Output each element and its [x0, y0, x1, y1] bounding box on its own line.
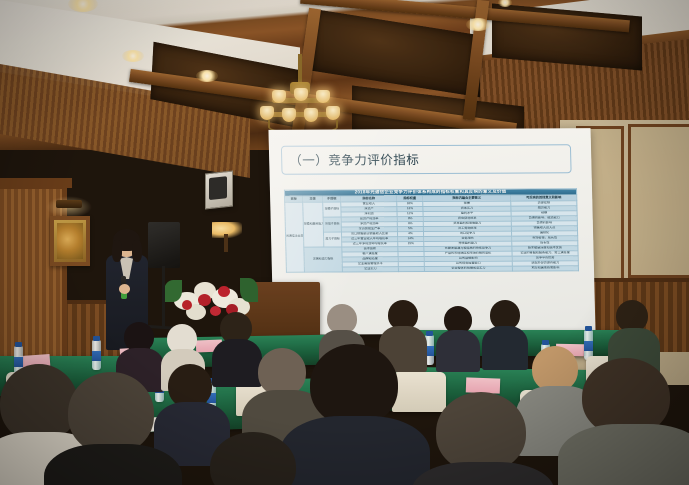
wall-panel — [628, 124, 689, 278]
presenter-hair — [132, 240, 142, 262]
indicator-other: 地方和国家政策影响 — [512, 265, 578, 270]
ceiling-downlight — [466, 18, 490, 31]
indicator-weight — [398, 266, 424, 271]
audience-member — [438, 306, 478, 364]
pa-speaker — [148, 222, 180, 268]
wall-sconce-left — [56, 200, 82, 208]
group-cell: 发展和潜力指标 — [304, 247, 343, 272]
group-cell: 规模和赢利能力（竞争能力基础）权重为70% — [303, 202, 324, 247]
indicator-name: 企业实力 — [342, 266, 398, 271]
wall-loudspeaker-icon — [205, 171, 233, 210]
goal-cell: 光通信企业竞争力综合指标 — [285, 202, 305, 272]
indicator-meaning: 企业整体的规模和总实力 — [424, 266, 512, 271]
wall-sconce-arm — [224, 234, 228, 252]
slide-title: （一）竞争力评价指标 — [289, 149, 530, 170]
ceiling-downlight — [68, 0, 98, 12]
subgroup-cell: 效益子目标 — [323, 217, 341, 232]
subgroup-cell: 潜力子目标 — [323, 232, 341, 247]
conference-photo: （一）竞争力评价指标 2018年光通信企业竞争力评价体系构成的指标权重和其反映的… — [0, 0, 689, 485]
ceiling-downlight — [122, 50, 144, 62]
presenter-hair — [112, 240, 122, 262]
subgroup-cell: 规模子目标 — [323, 202, 341, 217]
presenter-hand — [119, 284, 130, 294]
framed-painting — [50, 216, 90, 266]
chandelier — [254, 54, 348, 132]
audience-member-foreground — [196, 432, 316, 485]
audience-member — [608, 300, 656, 366]
speaker-stand-pole — [162, 266, 165, 328]
audience-member-foreground — [566, 358, 689, 485]
ceiling-downlight — [196, 70, 218, 82]
audience-member-foreground — [418, 392, 546, 485]
slide-table: 2018年光通信企业竞争力评价体系构成的指标权重和其反映的意义及价值 目标 主体… — [284, 188, 579, 272]
audience-member-foreground — [52, 372, 172, 485]
